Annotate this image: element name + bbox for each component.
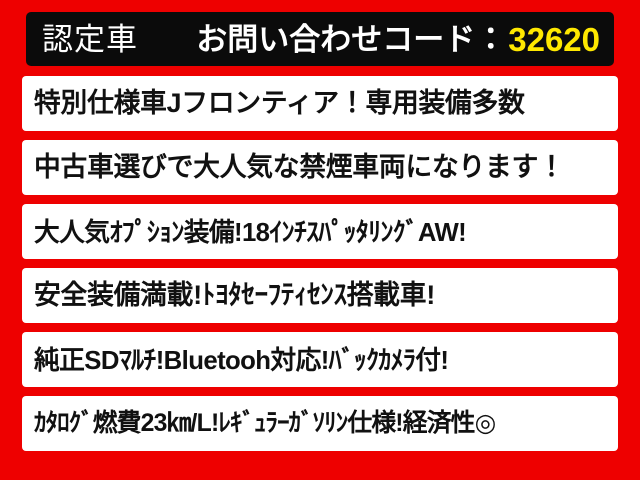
feature-row: 中古車選びで大人気な禁煙車両になります！ (22, 140, 618, 195)
feature-row: 大人気ｵﾌﾟｼｮﾝ装備!18ｲﾝﾁｽﾊﾟｯﾀﾘﾝｸﾞAW! (22, 204, 618, 259)
feature-row: ｶﾀﾛｸﾞ燃費23㎞/L!ﾚｷﾞｭﾗｰｶﾞｿﾘﾝ仕様!経済性◎ (22, 396, 618, 451)
feature-row: 純正SDﾏﾙﾁ!Bluetooh対応!ﾊﾞｯｸｶﾒﾗ付! (22, 332, 618, 387)
feature-row-text: ｶﾀﾛｸﾞ燃費23㎞/L!ﾚｷﾞｭﾗｰｶﾞｿﾘﾝ仕様!経済性◎ (34, 411, 495, 436)
feature-row: 特別仕様車Jフロンティア！専用装備多数 (22, 76, 618, 131)
vehicle-listing-banner: 認定車 お問い合わせコード： 32620 特別仕様車Jフロンティア！専用装備多数… (0, 0, 640, 480)
feature-row-text: 大人気ｵﾌﾟｼｮﾝ装備!18ｲﾝﾁｽﾊﾟｯﾀﾘﾝｸﾞAW! (34, 219, 466, 245)
feature-row-text: 特別仕様車Jフロンティア！専用装備多数 (34, 90, 525, 117)
inquiry-code-value: 32620 (508, 23, 600, 56)
header-bar: 認定車 お問い合わせコード： 32620 (26, 12, 614, 66)
inquiry-code-group: お問い合わせコード： 32620 (138, 23, 600, 56)
feature-row: 安全装備満載!ﾄﾖﾀｾｰﾌﾃｨｾﾝｽ搭載車! (22, 268, 618, 323)
certified-vehicle-badge: 認定車 (42, 24, 138, 55)
inquiry-code-label: お問い合わせコード： (196, 24, 506, 55)
feature-row-text: 中古車選びで大人気な禁煙車両になります！ (34, 154, 565, 181)
feature-row-text: 安全装備満載!ﾄﾖﾀｾｰﾌﾃｨｾﾝｽ搭載車! (34, 282, 435, 309)
feature-row-text: 純正SDﾏﾙﾁ!Bluetooh対応!ﾊﾞｯｸｶﾒﾗ付! (34, 347, 448, 373)
feature-row-list: 特別仕様車Jフロンティア！専用装備多数 中古車選びで大人気な禁煙車両になります！… (22, 76, 618, 451)
